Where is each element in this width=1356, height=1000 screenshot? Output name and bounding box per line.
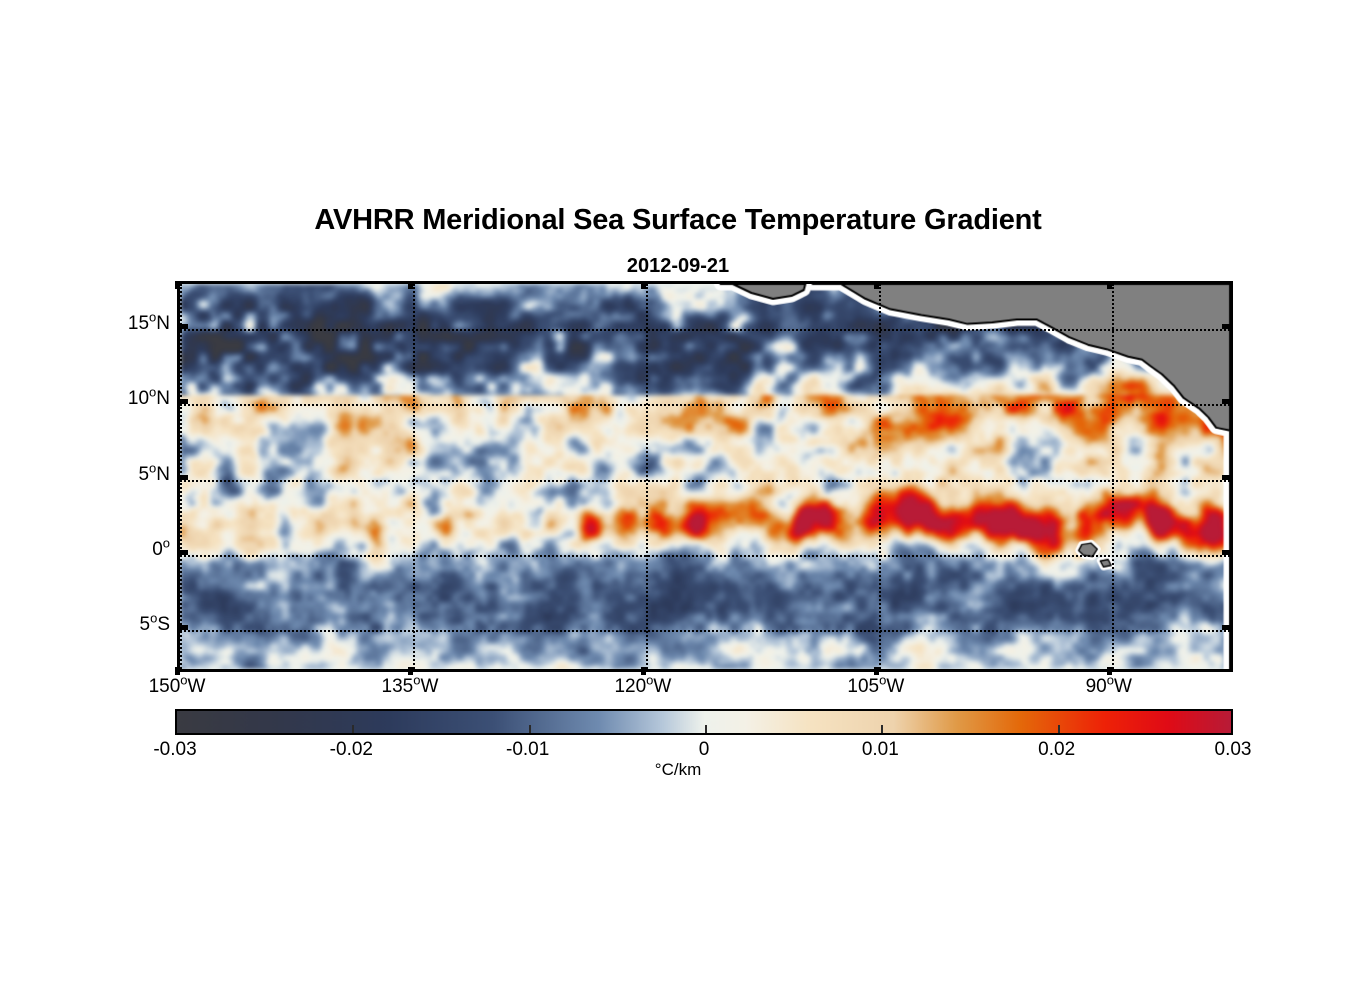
ytick-label-0°: 0o bbox=[60, 539, 170, 561]
colorbar-tick-0.01 bbox=[881, 725, 883, 733]
xtick-mark-top-150°W bbox=[175, 281, 180, 289]
xtick-mark-top-135°W bbox=[408, 281, 413, 289]
colorbar-tick-0.02 bbox=[1058, 725, 1060, 733]
ytick-mark-5°S bbox=[177, 625, 188, 630]
colorbar-label--0.01: -0.01 bbox=[468, 739, 588, 761]
xtick-label-105°W: 105oW bbox=[816, 676, 936, 698]
xtick-label-90°W: 90oW bbox=[1049, 676, 1169, 698]
figure-subtitle: 2012-09-21 bbox=[0, 255, 1356, 278]
ytick-mark-right-0° bbox=[1222, 550, 1233, 555]
colorbar-label--0.02: -0.02 bbox=[291, 739, 411, 761]
ytick-mark-right-15°N bbox=[1222, 324, 1233, 329]
ytick-mark-15°N bbox=[177, 324, 188, 329]
ytick-mark-right-5°S bbox=[1222, 625, 1233, 630]
xtick-mark-top-90°W bbox=[1107, 281, 1112, 289]
xtick-label-120°W: 120oW bbox=[583, 676, 703, 698]
ytick-label-5°N: 5oN bbox=[60, 464, 170, 486]
xtick-mark-top-120°W bbox=[641, 281, 646, 289]
ytick-mark-5°N bbox=[177, 475, 188, 480]
colorbar-label-0.02: 0.02 bbox=[997, 739, 1117, 761]
sst-gradient-heatmap bbox=[180, 284, 1230, 669]
ytick-label-10°N: 10oN bbox=[60, 388, 170, 410]
xtick-label-150°W: 150oW bbox=[117, 676, 237, 698]
colorbar-tick-0 bbox=[705, 725, 707, 733]
ytick-mark-10°N bbox=[177, 399, 188, 404]
colorbar-label-0: 0 bbox=[644, 739, 764, 761]
colorbar-tick--0.02 bbox=[352, 725, 354, 733]
xtick-mark-top-105°W bbox=[874, 281, 879, 289]
colorbar-label-0.03: 0.03 bbox=[1173, 739, 1293, 761]
ytick-mark-right-5°N bbox=[1222, 475, 1233, 480]
colorbar[interactable] bbox=[175, 709, 1233, 735]
colorbar-label-0.01: 0.01 bbox=[820, 739, 940, 761]
ytick-label-5°S: 5oS bbox=[60, 614, 170, 636]
figure-canvas: AVHRR Meridional Sea Surface Temperature… bbox=[0, 0, 1356, 1000]
ytick-label-15°N: 15oN bbox=[60, 313, 170, 335]
ytick-mark-0° bbox=[177, 550, 188, 555]
colorbar-units-label: °C/km bbox=[0, 760, 1356, 780]
xtick-label-135°W: 135oW bbox=[350, 676, 470, 698]
map-axes[interactable] bbox=[177, 281, 1233, 672]
colorbar-gradient bbox=[177, 711, 1231, 733]
colorbar-label--0.03: -0.03 bbox=[115, 739, 235, 761]
ytick-mark-right-10°N bbox=[1222, 399, 1233, 404]
colorbar-tick--0.01 bbox=[529, 725, 531, 733]
page-title: AVHRR Meridional Sea Surface Temperature… bbox=[0, 204, 1356, 237]
